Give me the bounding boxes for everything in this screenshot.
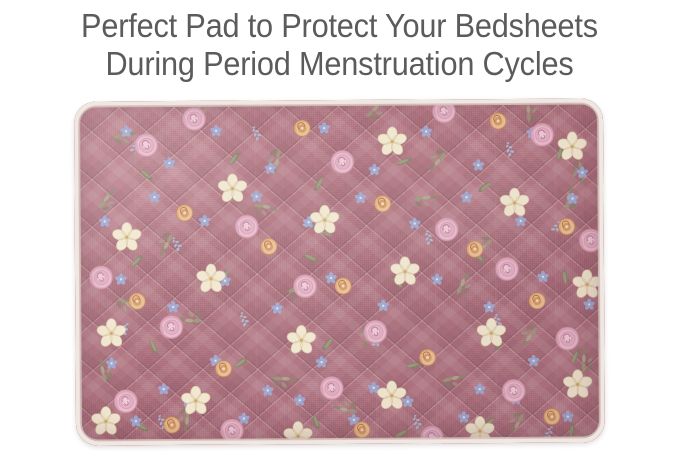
screenshot-canvas: Perfect Pad to Protect Your Bedsheets Du… xyxy=(0,0,679,451)
page-title: Perfect Pad to Protect Your Bedsheets Du… xyxy=(24,0,655,83)
page-title-line-1: Perfect Pad to Protect Your Bedsheets xyxy=(24,7,655,45)
quilted-pad xyxy=(74,98,605,445)
floral-print-layer xyxy=(74,98,605,445)
page-title-line-2: During Period Menstruation Cycles xyxy=(24,45,655,83)
product-image xyxy=(74,98,605,445)
